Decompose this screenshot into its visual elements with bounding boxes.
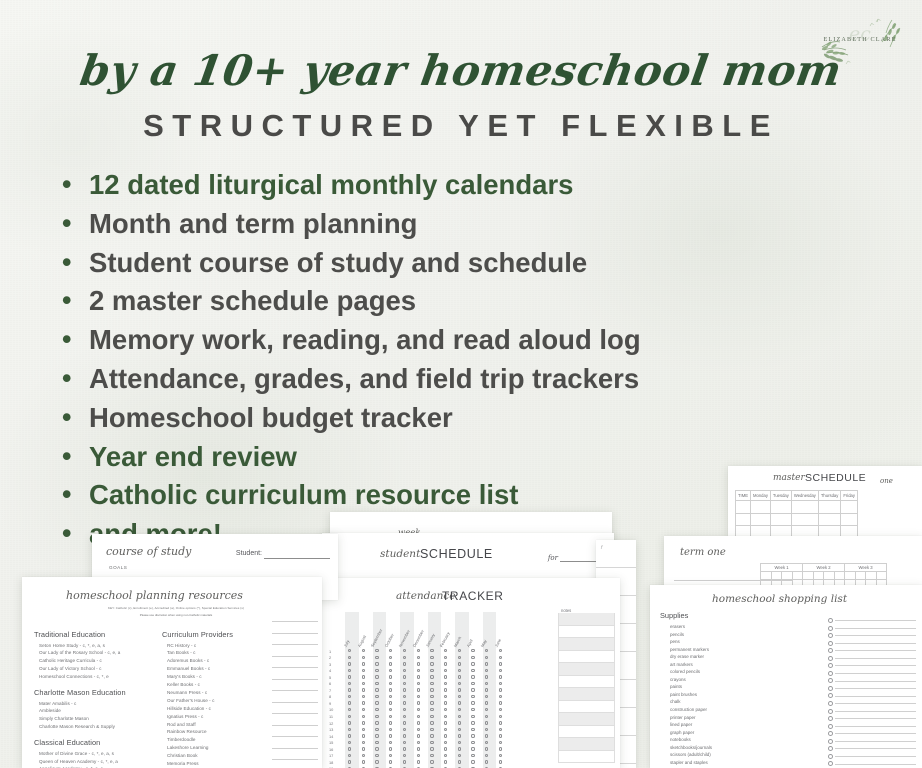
attendance-checkbox[interactable] (471, 701, 474, 704)
attendance-notes-column: notes (558, 608, 615, 763)
attendance-checkbox[interactable] (499, 688, 502, 691)
attendance-checkbox[interactable] (362, 701, 365, 704)
resource-entry: Mother of Divine Grace - c, *, e, a, s (34, 750, 159, 758)
attendance-checkbox[interactable] (389, 682, 392, 685)
attendance-checkbox[interactable] (389, 688, 392, 691)
resource-entry: Emmanuel Books - c (162, 665, 282, 673)
attendance-checkbox[interactable] (389, 675, 392, 678)
attendance-checkbox[interactable] (458, 701, 461, 704)
attendance-checkbox[interactable] (430, 695, 433, 698)
attendance-checkbox[interactable] (499, 675, 502, 678)
list-item: stapler and staples (670, 759, 712, 767)
list-item: crayons (670, 676, 712, 684)
list-item: pens (670, 638, 712, 646)
attendance-checkbox[interactable] (430, 728, 433, 731)
sheet-shopping-list: homeschool shopping list Supplies eraser… (650, 585, 922, 768)
attendance-checkbox[interactable] (389, 760, 392, 763)
attendance-checkbox[interactable] (458, 662, 461, 665)
attendance-checkbox[interactable] (444, 708, 447, 711)
week-header: Week 2 (803, 564, 845, 572)
attendance-checkbox[interactable] (458, 675, 461, 678)
attendance-checkbox[interactable] (389, 734, 392, 737)
attendance-checkbox[interactable] (458, 688, 461, 691)
attendance-checkbox[interactable] (471, 708, 474, 711)
attendance-checkbox[interactable] (417, 734, 420, 737)
table-header-row: TIME Monday Tuesday Wednesday Thursday F… (736, 491, 858, 501)
attendance-checkbox[interactable] (389, 708, 392, 711)
attendance-checkbox[interactable] (362, 741, 365, 744)
attendance-checkbox[interactable] (499, 721, 502, 724)
shopping-section-heading: Supplies (660, 611, 688, 620)
col-header: Tuesday (770, 491, 791, 501)
attendance-checkbox[interactable] (430, 721, 433, 724)
attendance-checkbox[interactable] (444, 754, 447, 757)
attendance-checkbox[interactable] (362, 662, 365, 665)
attendance-checkbox[interactable] (417, 662, 420, 665)
brand-logo-text: ELIZABETH CLARE (808, 36, 912, 43)
resource-entry: Mater Amabilis - c (34, 700, 159, 708)
attendance-checkbox[interactable] (362, 656, 365, 659)
attendance-checkbox[interactable] (375, 701, 378, 704)
attendance-checkbox[interactable] (417, 656, 420, 659)
headline-subtitle: STRUCTURED YET FLEXIBLE (0, 108, 922, 144)
list-item: chalk (670, 698, 712, 706)
day-number: 13 (329, 727, 333, 732)
attendance-checkbox[interactable] (403, 662, 406, 665)
attendance-checkbox[interactable] (444, 695, 447, 698)
attendance-checkbox[interactable] (389, 721, 392, 724)
attendance-checkbox[interactable] (499, 728, 502, 731)
feature-item: Homeschool budget tracker (60, 399, 740, 438)
col-header: Thursday (818, 491, 840, 501)
list-item: paint brushes (670, 691, 712, 699)
attendance-checkbox[interactable] (417, 715, 420, 718)
attendance-checkbox[interactable] (389, 715, 392, 718)
attendance-checkbox[interactable] (458, 760, 461, 763)
day-number: 18 (329, 760, 333, 765)
attendance-checkbox[interactable] (362, 734, 365, 737)
attendance-checkbox[interactable] (444, 747, 447, 750)
list-item: pencils (670, 631, 712, 639)
attendance-checkbox[interactable] (458, 669, 461, 672)
attendance-checkbox[interactable] (471, 688, 474, 691)
attendance-checkbox[interactable] (430, 701, 433, 704)
attendance-checkbox[interactable] (444, 675, 447, 678)
attendance-checkbox[interactable] (403, 721, 406, 724)
attendance-checkbox[interactable] (375, 760, 378, 763)
attendance-checkbox[interactable] (375, 754, 378, 757)
attendance-checkbox[interactable] (403, 701, 406, 704)
attendance-checkbox[interactable] (430, 688, 433, 691)
day-number: 1 (329, 649, 331, 654)
attendance-checkbox[interactable] (375, 682, 378, 685)
attendance-checkbox[interactable] (430, 754, 433, 757)
attendance-checkbox[interactable] (471, 721, 474, 724)
day-number: 10 (329, 707, 333, 712)
resource-entry: Keller Books - c (162, 681, 282, 689)
attendance-checkbox[interactable] (430, 741, 433, 744)
attendance-checkbox[interactable] (403, 760, 406, 763)
day-number: 6 (329, 681, 331, 686)
resources-write-in-lines (272, 621, 318, 768)
student-schedule-title: SCHEDULE (420, 547, 493, 561)
attendance-checkbox[interactable] (403, 747, 406, 750)
attendance-checkbox[interactable] (471, 741, 474, 744)
attendance-checkbox[interactable] (471, 754, 474, 757)
table-row (736, 513, 858, 526)
attendance-checkbox[interactable] (362, 675, 365, 678)
feature-item: Month and term planning (60, 205, 740, 244)
resource-entry: Our Lady of Victory School - c (34, 665, 159, 673)
attendance-checkbox[interactable] (499, 708, 502, 711)
attendance-checkbox[interactable] (348, 662, 351, 665)
shopping-list-title: homeschool shopping list (712, 593, 847, 605)
resources-note-line: Please use discretion when using non-Cat… (36, 613, 316, 617)
resource-entry: Catholic Heritage Curricula - c (34, 657, 159, 665)
attendance-checkbox[interactable] (444, 649, 447, 652)
attendance-checkbox[interactable] (417, 649, 420, 652)
attendance-checkbox[interactable] (389, 741, 392, 744)
table-header-row: Week 1 Week 2 Week 3 (761, 564, 887, 572)
attendance-checkbox[interactable] (417, 760, 420, 763)
attendance-checkbox[interactable] (471, 649, 474, 652)
attendance-checkbox[interactable] (375, 734, 378, 737)
attendance-checkbox[interactable] (362, 688, 365, 691)
week-header: Week 3 (845, 564, 887, 572)
col-header: TIME (736, 491, 751, 501)
group-heading: Charlotte Mason Education (34, 688, 159, 697)
attendance-checkbox[interactable] (362, 721, 365, 724)
attendance-checkbox[interactable] (471, 662, 474, 665)
attendance-checkbox[interactable] (499, 682, 502, 685)
group-heading: Classical Education (34, 738, 159, 747)
attendance-checkbox[interactable] (417, 721, 420, 724)
attendance-checkbox[interactable] (471, 682, 474, 685)
resource-entry: Ignatius Press - c (162, 713, 282, 721)
attendance-checkbox[interactable] (375, 715, 378, 718)
attendance-checkbox[interactable] (458, 747, 461, 750)
course-of-study-student-line (264, 558, 330, 559)
list-item: dry erase marker (670, 653, 712, 661)
course-of-study-goals-label: GOALS (109, 565, 127, 570)
attendance-checkbox[interactable] (430, 656, 433, 659)
attendance-checkbox[interactable] (499, 662, 502, 665)
feature-item: 12 dated liturgical monthly calendars (60, 166, 740, 205)
attendance-checkbox[interactable] (430, 734, 433, 737)
attendance-checkbox[interactable] (417, 747, 420, 750)
master-schedule-script: master (773, 473, 805, 483)
attendance-checkbox[interactable] (417, 675, 420, 678)
attendance-checkbox[interactable] (444, 760, 447, 763)
attendance-checkbox[interactable] (417, 695, 420, 698)
list-item: printer paper (670, 714, 712, 722)
attendance-checkbox[interactable] (499, 760, 502, 763)
attendance-checkbox[interactable] (485, 734, 488, 737)
attendance-checkbox[interactable] (375, 747, 378, 750)
attendance-checkbox[interactable] (444, 734, 447, 737)
day-number: 11 (329, 714, 333, 719)
group-heading: Traditional Education (34, 630, 159, 639)
list-item: scissors (adult/child) (670, 751, 712, 759)
attendance-checkbox[interactable] (375, 656, 378, 659)
attendance-checkbox[interactable] (471, 675, 474, 678)
attendance-checkbox[interactable] (389, 728, 392, 731)
day-number: 12 (329, 721, 333, 726)
attendance-checkbox[interactable] (444, 701, 447, 704)
attendance-checkbox[interactable] (458, 721, 461, 724)
day-number: 15 (329, 740, 333, 745)
attendance-checkbox[interactable] (444, 715, 447, 718)
table-row (761, 572, 887, 580)
headline-script: by a 10+ year homeschool mom (0, 50, 922, 92)
attendance-checkbox[interactable] (444, 741, 447, 744)
resource-entry: Ambleside (34, 707, 159, 715)
attendance-checkbox[interactable] (471, 734, 474, 737)
shopping-items: erasers pencils pens permanent markers d… (670, 623, 712, 766)
attendance-checkbox[interactable] (499, 747, 502, 750)
resource-entry: Seton Home Study - c, *, e, a, s (34, 642, 159, 650)
table-row (736, 501, 858, 514)
attendance-checkbox[interactable] (375, 741, 378, 744)
resource-entry: Rainbow Resource (162, 728, 282, 736)
day-number: 9 (329, 701, 331, 706)
attendance-checkbox[interactable] (362, 708, 365, 711)
list-item: construction paper (670, 706, 712, 714)
day-number: 3 (329, 662, 331, 667)
course-of-study-title: course of study (106, 545, 191, 558)
attendance-checkbox[interactable] (389, 656, 392, 659)
feature-item: Catholic curriculum resource list (60, 476, 740, 515)
attendance-checkbox[interactable] (403, 675, 406, 678)
sheet-planning-resources: homeschool planning resources KEY: Catho… (22, 577, 322, 768)
attendance-checkbox[interactable] (362, 760, 365, 763)
resource-entry: Neumann Press - c (162, 689, 282, 697)
attendance-checkbox[interactable] (471, 715, 474, 718)
week-header: Week 1 (761, 564, 803, 572)
shopping-write-in-lines (828, 615, 916, 766)
attendance-checkbox[interactable] (444, 682, 447, 685)
attendance-checkbox[interactable] (362, 682, 365, 685)
attendance-checkbox[interactable] (430, 747, 433, 750)
term-title: term one (680, 547, 726, 558)
attendance-checkbox[interactable] (499, 715, 502, 718)
resources-key-line: KEY: Catholic (c), Enrollment (e), Accre… (36, 606, 316, 610)
resource-entry: Timberdoodle (162, 736, 282, 744)
feature-item: Student course of study and schedule (60, 244, 740, 283)
resource-entry: Tan Books - c (162, 649, 282, 657)
attendance-checkbox[interactable] (348, 721, 351, 724)
attendance-checkbox[interactable] (389, 669, 392, 672)
resources-column-right: Curriculum Providers RC History - c Tan … (162, 623, 282, 768)
list-item: erasers (670, 623, 712, 631)
master-schedule-title: SCHEDULE (805, 472, 866, 484)
attendance-checkbox[interactable] (362, 747, 365, 750)
attendance-checkbox[interactable] (417, 728, 420, 731)
attendance-checkbox[interactable] (499, 669, 502, 672)
attendance-checkbox[interactable] (458, 715, 461, 718)
course-of-study-student-label: Student: (236, 550, 262, 557)
resource-entry: Memoria Press (162, 760, 282, 768)
attendance-checkbox[interactable] (375, 669, 378, 672)
attendance-checkbox[interactable] (417, 682, 420, 685)
attendance-checkbox[interactable] (417, 688, 420, 691)
sheet-master-schedule: master SCHEDULE one TIME Monday Tuesday … (728, 466, 922, 538)
student-schedule-for-label: for (548, 554, 558, 562)
attendance-checkbox[interactable] (375, 662, 378, 665)
day-number: 4 (329, 668, 331, 673)
attendance-checkbox[interactable] (430, 669, 433, 672)
resource-entry: RC History - c (162, 642, 282, 650)
attendance-checkbox[interactable] (471, 695, 474, 698)
attendance-title: TRACKER (442, 589, 504, 603)
student-schedule-script: student (380, 548, 420, 560)
attendance-checkbox[interactable] (444, 662, 447, 665)
attendance-checkbox[interactable] (417, 708, 420, 711)
attendance-checkbox[interactable] (444, 728, 447, 731)
day-number: 7 (329, 688, 331, 693)
attendance-checkbox[interactable] (499, 656, 502, 659)
attendance-checkbox[interactable] (362, 669, 365, 672)
attendance-checkbox[interactable] (499, 741, 502, 744)
resource-entry: Simply Charlotte Mason (34, 715, 159, 723)
list-item: colored pencils (670, 668, 712, 676)
attendance-checkbox[interactable] (444, 656, 447, 659)
attendance-checkbox[interactable] (375, 721, 378, 724)
attendance-checkbox[interactable] (444, 688, 447, 691)
attendance-checkbox[interactable] (375, 688, 378, 691)
attendance-checkbox[interactable] (375, 675, 378, 678)
attendance-checkbox[interactable] (499, 754, 502, 757)
attendance-checkbox[interactable] (430, 715, 433, 718)
resource-entry: Mary's Books - c (162, 673, 282, 681)
attendance-checkbox[interactable] (458, 656, 461, 659)
resources-column-left: Traditional Education Seton Home Study -… (34, 623, 159, 768)
strip-mark: f (601, 544, 602, 549)
resource-entry: Homeschool Connections - c, *, e (34, 673, 159, 681)
resource-entry: Queen of Heaven Academy - c, *, e, a (34, 758, 159, 766)
attendance-checkbox[interactable] (389, 695, 392, 698)
feature-item: Year end review (60, 438, 740, 477)
resource-entry: Lakeshore Learning (162, 744, 282, 752)
attendance-checkbox[interactable] (458, 728, 461, 731)
list-item: notebooks (670, 736, 712, 744)
attendance-checkbox[interactable] (389, 747, 392, 750)
resource-entry: Hillside Education - c (162, 705, 282, 713)
feature-list: 12 dated liturgical monthly calendars Mo… (60, 166, 740, 554)
list-item: permanent markers (670, 646, 712, 654)
feature-item: Memory work, reading, and read aloud log (60, 321, 740, 360)
day-number: 17 (329, 753, 333, 758)
attendance-checkbox[interactable] (499, 734, 502, 737)
attendance-checkbox[interactable] (417, 754, 420, 757)
col-header: Monday (751, 491, 771, 501)
attendance-checkbox[interactable] (389, 662, 392, 665)
attendance-checkbox[interactable] (485, 721, 488, 724)
day-number: 14 (329, 734, 333, 739)
attendance-checkbox[interactable] (417, 669, 420, 672)
list-item: graph paper (670, 729, 712, 737)
attendance-checkbox[interactable] (403, 734, 406, 737)
resource-entry: Our Lady of the Rosary School - c, e, a (34, 649, 159, 657)
attendance-checkbox[interactable] (403, 688, 406, 691)
resource-entry: Christian Book (162, 752, 282, 760)
attendance-checkbox[interactable] (430, 682, 433, 685)
day-number: 8 (329, 694, 331, 699)
day-number: 5 (329, 675, 331, 680)
attendance-checkbox[interactable] (499, 701, 502, 704)
list-item: paints (670, 683, 712, 691)
promo-canvas: ec ELIZABETH CLARE by a 10+ year homesch… (0, 0, 922, 768)
attendance-checkbox[interactable] (348, 734, 351, 737)
attendance-checkbox[interactable] (362, 695, 365, 698)
list-item: lined paper (670, 721, 712, 729)
attendance-checkbox[interactable] (458, 734, 461, 737)
attendance-checkbox[interactable] (389, 649, 392, 652)
list-item: art markers (670, 661, 712, 669)
attendance-checkbox[interactable] (375, 728, 378, 731)
attendance-checkbox[interactable] (362, 649, 365, 652)
feature-item: Attendance, grades, and field trip track… (60, 360, 740, 399)
attendance-checkbox[interactable] (485, 662, 488, 665)
day-number: 16 (329, 747, 333, 752)
sheet-attendance-tracker: attendance TRACKER July August September… (312, 578, 620, 768)
resource-entry: Rod and Staff (162, 721, 282, 729)
resource-entry: Our Father's House - c (162, 697, 282, 705)
group-heading: Curriculum Providers (162, 630, 282, 639)
attendance-checkbox[interactable] (471, 760, 474, 763)
master-schedule-table: TIME Monday Tuesday Wednesday Thursday F… (735, 490, 858, 538)
attendance-checkbox[interactable] (430, 760, 433, 763)
attendance-checkbox[interactable] (430, 662, 433, 665)
day-number: 2 (329, 655, 331, 660)
attendance-checkbox[interactable] (471, 728, 474, 731)
attendance-checkbox[interactable] (362, 715, 365, 718)
attendance-checkbox[interactable] (389, 701, 392, 704)
attendance-checkbox[interactable] (471, 669, 474, 672)
resource-entry: Charlotte Mason Research & Supply (34, 723, 159, 731)
col-header: Wednesday (791, 491, 818, 501)
attendance-checkbox[interactable] (471, 747, 474, 750)
attendance-checkbox[interactable] (430, 675, 433, 678)
attendance-checkbox[interactable] (458, 741, 461, 744)
attendance-checkbox[interactable] (499, 649, 502, 652)
attendance-checkbox[interactable] (471, 656, 474, 659)
attendance-checkbox[interactable] (444, 669, 447, 672)
col-header: Friday (841, 491, 858, 501)
attendance-checkbox[interactable] (444, 721, 447, 724)
attendance-checkbox[interactable] (499, 695, 502, 698)
list-item: sketchbooks/journals (670, 744, 712, 752)
feature-item: 2 master schedule pages (60, 282, 740, 321)
attendance-checkbox[interactable] (389, 754, 392, 757)
resources-title: homeschool planning resources (66, 589, 243, 602)
attendance-checkbox[interactable] (362, 728, 365, 731)
resource-entry: Adoremus Books - c (162, 657, 282, 665)
master-schedule-suffix: one (880, 477, 893, 485)
attendance-checkbox[interactable] (362, 754, 365, 757)
attendance-checkbox[interactable] (417, 741, 420, 744)
attendance-checkbox[interactable] (417, 701, 420, 704)
